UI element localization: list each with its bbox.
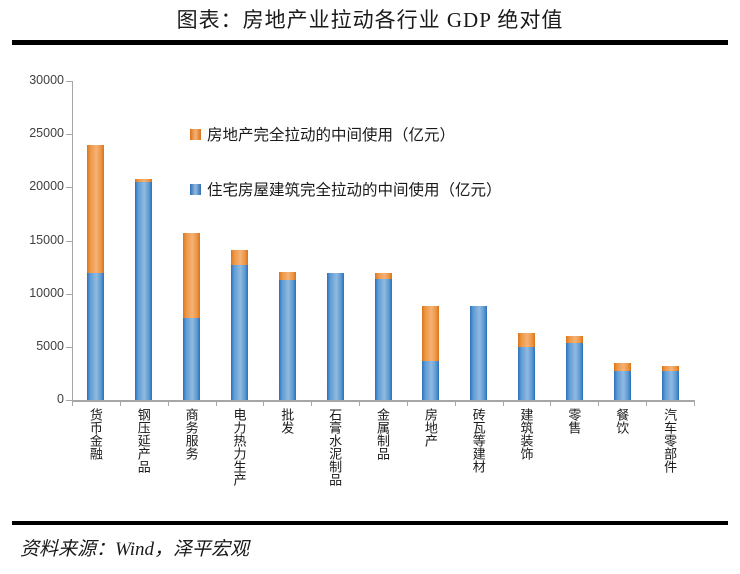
bar-segment-blue bbox=[327, 273, 344, 400]
bar-group bbox=[231, 250, 248, 400]
legend-label-blue: 住宅房屋建筑完全拉动的中间使用（亿元） bbox=[207, 178, 502, 200]
x-axis-category-label: 建筑装饰 bbox=[520, 408, 533, 460]
page-title: 图表：房地产业拉动各行业 GDP 绝对值 bbox=[12, 2, 728, 38]
legend-item-real-estate: 房地产完全拉动的中间使用（亿元） bbox=[190, 123, 455, 145]
x-axis-tick bbox=[407, 400, 408, 406]
bar-segment-orange bbox=[279, 272, 296, 279]
bar-segment-blue bbox=[87, 273, 104, 400]
source-note: 资料来源：Wind，泽平宏观 bbox=[20, 534, 249, 561]
x-axis-tick bbox=[598, 400, 599, 406]
x-axis-tick bbox=[550, 400, 551, 406]
x-axis-tick bbox=[263, 400, 264, 406]
x-axis-category-label: 房地产 bbox=[424, 408, 437, 447]
bar-group bbox=[87, 145, 104, 400]
y-axis-labels: 050001000015000200002500030000 bbox=[0, 81, 64, 400]
bar-group bbox=[279, 272, 296, 400]
x-axis-category-labels: 货币金融钢压延产品商务服务电力热力生产批发石膏水泥制品金属制品房地产砖瓦等建材建… bbox=[72, 408, 694, 516]
bar-group bbox=[375, 273, 392, 400]
bar-segment-blue bbox=[518, 347, 535, 400]
bar-segment-blue bbox=[566, 343, 583, 400]
x-axis-tick bbox=[646, 400, 647, 406]
x-axis-tick bbox=[311, 400, 312, 406]
bar-segment-orange bbox=[135, 179, 152, 182]
x-axis-category-label: 砖瓦等建材 bbox=[472, 408, 485, 473]
legend-swatch-blue-icon bbox=[190, 184, 201, 195]
x-axis-line bbox=[72, 400, 694, 402]
y-axis-tick-label: 25000 bbox=[8, 126, 64, 140]
legend-swatch-orange-icon bbox=[190, 129, 201, 140]
bar-segment-orange bbox=[375, 273, 392, 278]
title-divider-top bbox=[12, 40, 728, 45]
bar-group bbox=[566, 336, 583, 400]
bar-segment-orange bbox=[87, 145, 104, 274]
chart-figure: 图表：房地产业拉动各行业 GDP 绝对值 0500010000150002000… bbox=[0, 0, 740, 574]
bar-segment-orange bbox=[614, 363, 631, 372]
x-axis-category-label: 零售 bbox=[567, 408, 580, 434]
x-axis-category-label: 餐饮 bbox=[615, 408, 628, 434]
y-axis-tick-label: 30000 bbox=[8, 73, 64, 87]
x-axis-tick bbox=[503, 400, 504, 406]
y-axis-tick-label: 0 bbox=[8, 392, 64, 406]
bar-group bbox=[135, 179, 152, 400]
x-axis-category-label: 商务服务 bbox=[185, 408, 198, 460]
x-axis-category-label: 钢压延产品 bbox=[137, 408, 150, 473]
bar-segment-blue bbox=[183, 318, 200, 400]
y-axis-tick-label: 20000 bbox=[8, 179, 64, 193]
bar-group bbox=[183, 233, 200, 400]
source-divider bbox=[12, 521, 728, 525]
bar-segment-blue bbox=[279, 280, 296, 400]
y-axis-tick-label: 15000 bbox=[8, 233, 64, 247]
bar-segment-orange bbox=[662, 366, 679, 371]
bar-segment-blue bbox=[422, 361, 439, 400]
x-axis-tick bbox=[72, 400, 73, 406]
bar-segment-blue bbox=[614, 371, 631, 400]
x-axis-tick bbox=[120, 400, 121, 406]
y-axis-tick-label: 5000 bbox=[8, 339, 64, 353]
x-axis-tick bbox=[168, 400, 169, 406]
legend-label-orange: 房地产完全拉动的中间使用（亿元） bbox=[207, 123, 455, 145]
bar-segment-orange bbox=[183, 233, 200, 318]
bar-segment-orange bbox=[566, 336, 583, 342]
bar-segment-orange bbox=[231, 250, 248, 265]
bar-group bbox=[422, 306, 439, 400]
bar-segment-blue bbox=[135, 182, 152, 400]
bar-group bbox=[470, 306, 487, 400]
bar-group bbox=[327, 273, 344, 400]
bar-group bbox=[518, 333, 535, 400]
legend-item-residential-construction: 住宅房屋建筑完全拉动的中间使用（亿元） bbox=[190, 178, 502, 200]
bar-group bbox=[614, 363, 631, 400]
x-axis-tick bbox=[216, 400, 217, 406]
x-axis-tick bbox=[455, 400, 456, 406]
bar-segment-blue bbox=[375, 279, 392, 400]
x-axis-category-label: 金属制品 bbox=[376, 408, 389, 460]
bar-segment-orange bbox=[518, 333, 535, 347]
x-axis-category-label: 电力热力生产 bbox=[232, 408, 245, 486]
x-axis-category-label: 石膏水泥制品 bbox=[328, 408, 341, 486]
x-axis-category-label: 批发 bbox=[280, 408, 293, 434]
x-axis-tick bbox=[694, 400, 695, 406]
x-axis-category-label: 货币金融 bbox=[89, 408, 102, 460]
bar-group bbox=[662, 366, 679, 400]
plot-area: 050001000015000200002500030000 货币金融钢压延产品… bbox=[0, 48, 740, 518]
bar-segment-blue bbox=[231, 265, 248, 400]
y-axis-tick-label: 10000 bbox=[8, 286, 64, 300]
bar-segment-orange bbox=[422, 306, 439, 360]
bar-segment-blue bbox=[470, 306, 487, 400]
x-axis-category-label: 汽车零部件 bbox=[663, 408, 676, 473]
bar-segment-blue bbox=[662, 371, 679, 400]
x-axis-tick bbox=[359, 400, 360, 406]
